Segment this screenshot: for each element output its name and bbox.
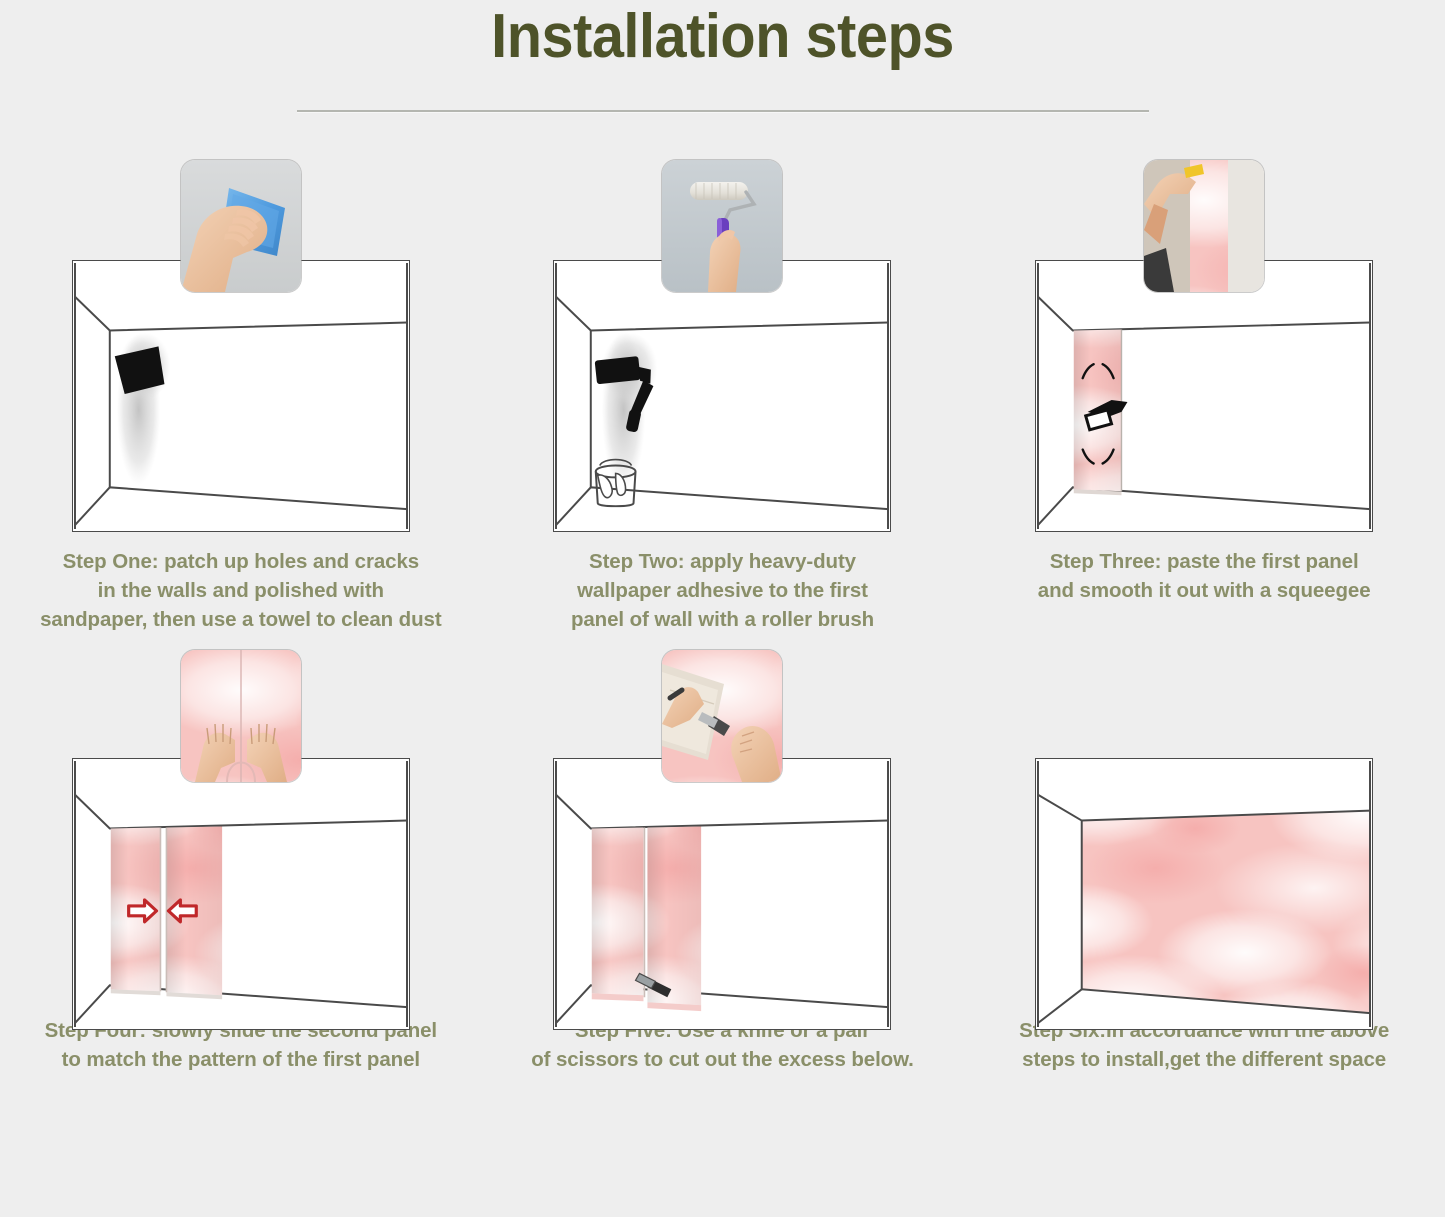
caption-line: Step Two: apply heavy-duty xyxy=(496,547,950,576)
step-four-illustration xyxy=(0,640,482,1012)
caption-line: in the walls and polished with xyxy=(14,576,468,605)
step-three-caption: Step Three: paste the first panel and sm… xyxy=(963,547,1445,605)
room-diagram-step-six xyxy=(1035,758,1373,1030)
room-diagram-step-five xyxy=(553,758,891,1030)
step-six-illustration xyxy=(963,640,1445,1012)
step-one-caption: Step One: patch up holes and cracks in t… xyxy=(0,547,482,634)
second-wallpaper-panel xyxy=(648,827,702,1006)
installation-steps-grid: Step One: patch up holes and cracks in t… xyxy=(0,150,1445,1075)
finished-wallpapered-wall xyxy=(1082,811,1370,1014)
step-card-five: Step Five: Use a knife or a pair of scis… xyxy=(482,640,964,1074)
caption-line: Step One: patch up holes and cracks xyxy=(14,547,468,576)
page-title: Installation steps xyxy=(51,0,1395,68)
step-two-caption: Step Two: apply heavy-duty wallpaper adh… xyxy=(482,547,964,634)
caption-line: of scissors to cut out the excess below. xyxy=(496,1045,950,1074)
caption-line: panel of wall with a roller brush xyxy=(496,605,950,634)
first-wallpaper-panel xyxy=(592,828,644,996)
room-diagram-step-two xyxy=(553,260,891,532)
caption-line: to match the pattern of the first panel xyxy=(14,1045,468,1074)
step-five-illustration xyxy=(482,640,964,1012)
room-diagram-step-three xyxy=(1035,260,1373,532)
inset-photo-hand-wiping-wall xyxy=(181,160,301,292)
caption-line: steps to install,get the different space xyxy=(977,1045,1431,1074)
caption-line: and smooth it out with a squeegee xyxy=(977,576,1431,605)
inset-photo-cutting-with-knife xyxy=(662,650,782,782)
title-divider xyxy=(297,110,1149,112)
inset-photo-aligning-two-panels xyxy=(181,650,301,782)
caption-line: Step Three: paste the first panel xyxy=(977,547,1431,576)
inset-photo-applying-first-panel xyxy=(1144,160,1264,292)
step-one-illustration xyxy=(0,150,482,545)
caption-line: wallpaper adhesive to the first xyxy=(496,576,950,605)
step-card-one: Step One: patch up holes and cracks in t… xyxy=(0,150,482,634)
caption-line: sandpaper, then use a towel to clean dus… xyxy=(14,605,468,634)
room-diagram-step-one xyxy=(72,260,410,532)
step-card-four: Step Four: slowly slide the second panel… xyxy=(0,640,482,1074)
step-two-illustration xyxy=(482,150,964,545)
room-diagram-step-four xyxy=(72,758,410,1030)
step-card-six: Step Six:In accordance with the above st… xyxy=(963,640,1445,1074)
step-card-two: Step Two: apply heavy-duty wallpaper adh… xyxy=(482,150,964,634)
inset-photo-paint-roller-on-wall xyxy=(662,160,782,292)
step-card-three: Step Three: paste the first panel and sm… xyxy=(963,150,1445,634)
step-three-illustration xyxy=(963,150,1445,545)
